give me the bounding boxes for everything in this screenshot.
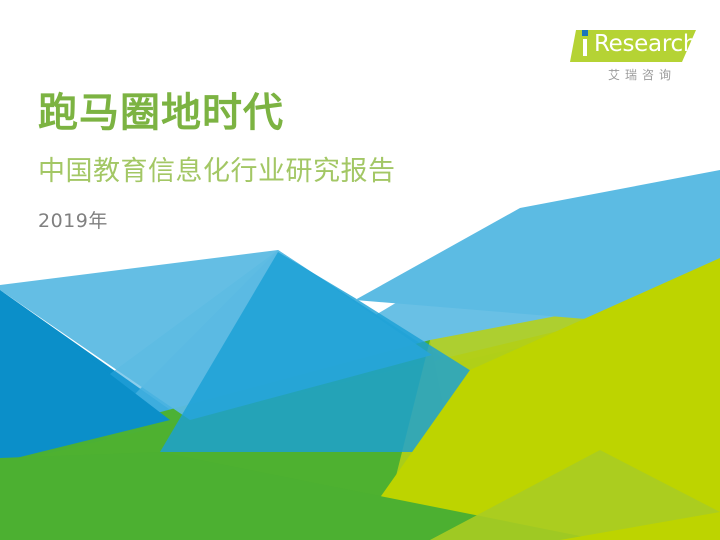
logo-i-stem-icon xyxy=(583,39,587,56)
iresearch-logo: Research 艾瑞咨询 xyxy=(570,26,698,92)
logo-chinese-name: 艾瑞咨询 xyxy=(586,68,698,82)
page-subtitle: 中国教育信息化行业研究报告 xyxy=(38,152,538,192)
report-cover-page: Research 艾瑞咨询 跑马圈地时代 中国教育信息化行业研究报告 2019年 xyxy=(0,0,720,540)
page-title: 跑马圈地时代 xyxy=(38,88,538,138)
logo-mark: Research xyxy=(570,26,698,66)
logo-i-dot-icon xyxy=(582,30,588,36)
cover-text-block: 跑马圈地时代 中国教育信息化行业研究报告 2019年 xyxy=(38,88,538,234)
logo-wordmark: Research xyxy=(594,33,697,56)
publication-year: 2019年 xyxy=(38,208,538,234)
